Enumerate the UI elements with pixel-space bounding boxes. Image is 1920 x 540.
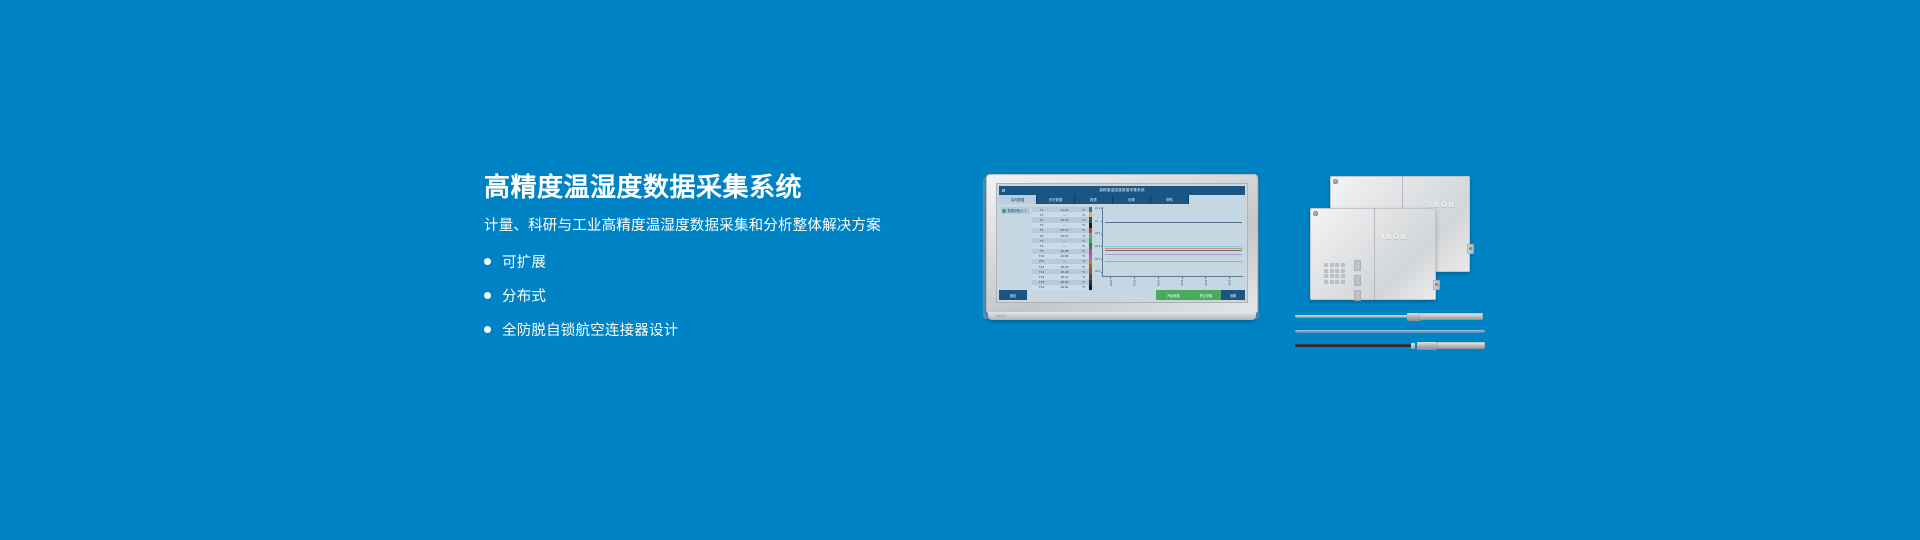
cell-value: 20.28 — [1050, 270, 1079, 274]
app-body: 数据采集仪 1 T121.01°CT2---°CT320.99°CT4---°C… — [999, 204, 1245, 290]
cell-value: 20.88 — [1050, 254, 1079, 258]
port-hole-icon — [1469, 247, 1472, 250]
app-titlebar: 高精度温湿度数据采集系统 — [999, 186, 1245, 195]
cell-unit: °C — [1079, 244, 1088, 248]
tabbar-filler — [1189, 195, 1245, 204]
chart-x-label: 11:40 — [1227, 280, 1230, 285]
hero-text-block: 高精度温湿度数据采集系统 计量、科研与工业高精度温湿度数据采集和分析整体解决方案… — [484, 172, 1004, 353]
cell-value: --- — [1050, 239, 1079, 243]
cell-channel: T11 — [1033, 259, 1050, 263]
cell-channel: T2 — [1033, 213, 1050, 217]
cell-unit: °C — [1079, 239, 1088, 243]
chart-plot-area: 21.12120.920.820.720.6 — [1102, 207, 1243, 276]
terminal-cell — [1330, 269, 1334, 273]
button-label: 设置 — [1230, 293, 1236, 298]
cell-channel: T12 — [1033, 265, 1050, 269]
terminal-cell — [1330, 274, 1334, 278]
chart-x-label: 10:40 — [1156, 280, 1159, 286]
cell-value: 20.07 — [1050, 234, 1079, 238]
cell-channel: T13 — [1033, 270, 1050, 274]
cell-value: --- — [1050, 213, 1079, 217]
tab-label: 实时数据 — [1011, 197, 1025, 202]
chart-trace — [1105, 248, 1242, 249]
bullet-dot-icon — [484, 292, 491, 299]
cell-unit: °C — [1079, 265, 1088, 269]
probe-tip — [1419, 313, 1483, 320]
tree-node-logger[interactable]: 数据采集仪 1 — [1001, 207, 1030, 214]
window-control-icon[interactable] — [1002, 189, 1005, 192]
monitor-bezel: 高精度温湿度数据采集系统 实时数据 历史数据 报表 设置 — [986, 174, 1258, 314]
connector-port — [1433, 280, 1440, 290]
button-label: 停止采集 — [1200, 293, 1213, 298]
cell-channel: T16 — [1033, 285, 1050, 289]
cell-channel: T7 — [1033, 239, 1050, 243]
chart-x-label: 11:20 — [1204, 280, 1207, 285]
terminal-cell — [1335, 263, 1339, 267]
chart-x-label: 10:00 — [1109, 280, 1112, 286]
cell-channel: T4 — [1033, 223, 1050, 227]
tree-node-label: 数据采集仪 1 — [1008, 208, 1027, 213]
stop-acquisition-button[interactable]: 停止采集 — [1191, 290, 1221, 300]
cell-value: 20.90 — [1050, 265, 1079, 269]
probe-nut — [1411, 343, 1415, 349]
chart-trace — [1105, 261, 1242, 262]
feature-item-1: 可扩展 — [484, 251, 1004, 272]
cell-channel: T1 — [1033, 208, 1050, 212]
chart-y-label: 20.7 — [1095, 258, 1100, 261]
brand-logo: INON — [996, 314, 1005, 318]
device-status-icon — [1002, 209, 1006, 213]
connector-slot — [1354, 290, 1361, 301]
chart-x-label: 10:20 — [1133, 280, 1136, 286]
chart-y-tick — [1101, 208, 1103, 209]
cell-value: --- — [1050, 244, 1079, 248]
terminal-cell — [1335, 280, 1339, 284]
terminal-cell — [1330, 280, 1334, 284]
tab-report[interactable]: 报表 — [1075, 195, 1113, 204]
monitor-screen: 高精度温湿度数据采集系统 实时数据 历史数据 报表 设置 — [999, 186, 1245, 300]
cell-unit: °C — [1079, 270, 1088, 274]
cell-value: 20.99 — [1050, 218, 1079, 222]
cell-unit: °C — [1079, 218, 1088, 222]
brand-logo: INON — [1382, 234, 1408, 241]
chart-y-tick — [1101, 246, 1103, 247]
port-hole-icon — [1435, 283, 1438, 286]
chart-y-tick — [1101, 221, 1103, 222]
cell-unit: °C — [1079, 285, 1088, 289]
cell-channel: T14 — [1033, 275, 1050, 279]
chart-trace — [1105, 254, 1242, 255]
channel-value-table: T121.01°CT2---°CT320.99°CT4---°CT520.12°… — [1032, 204, 1089, 290]
cell-unit: °C — [1079, 223, 1088, 227]
cell-value: 20.90 — [1050, 280, 1079, 284]
terminal-cell — [1324, 274, 1328, 278]
device-tree-panel: 数据采集仪 1 — [999, 204, 1032, 290]
cell-value: --- — [1050, 223, 1079, 227]
cell-channel: T8 — [1033, 244, 1050, 248]
probe-black-cable — [1295, 339, 1495, 353]
chart-y-tick — [1101, 234, 1103, 235]
panel-seam — [1374, 208, 1375, 300]
tab-label: 设置 — [1128, 197, 1135, 202]
terminal-cell — [1335, 269, 1339, 273]
terminal-cell — [1341, 274, 1345, 278]
chart-y-label: 20.9 — [1095, 232, 1100, 235]
cell-channel: T5 — [1033, 228, 1050, 232]
tab-label: 报表 — [1090, 197, 1097, 202]
chart-trace — [1105, 246, 1242, 247]
probe-blue-cable — [1295, 325, 1495, 339]
cell-unit: °C — [1079, 275, 1088, 279]
bullet-dot-icon — [484, 326, 491, 333]
cell-value: 20.98 — [1050, 249, 1079, 253]
terminal-cell — [1324, 280, 1328, 284]
chart-x-axis: 10:0010:2010:4011:0011:2011:40 — [1102, 276, 1243, 290]
sensor-probes — [1295, 310, 1495, 358]
chart-y-label: 21.1 — [1095, 207, 1100, 210]
feature-item-3: 全防脱自锁航空连接器设计 — [484, 319, 1004, 340]
probe-shaft — [1295, 330, 1485, 333]
cell-unit: °C — [1079, 228, 1088, 232]
bullet-dot-icon — [484, 258, 491, 265]
terminal-cell — [1324, 263, 1328, 267]
connector-column — [1354, 260, 1361, 301]
cell-unit: °C — [1079, 234, 1088, 238]
tab-realtime-data[interactable]: 实时数据 — [999, 195, 1037, 204]
terminal-block-grid — [1324, 263, 1345, 284]
cell-unit: °C — [1079, 254, 1088, 258]
monitor-inner-ring: 高精度温湿度数据采集系统 实时数据 历史数据 报表 设置 — [996, 183, 1248, 303]
cell-unit: °C — [1079, 249, 1088, 253]
probe-shaft — [1295, 344, 1415, 347]
chart-y-label: 20.6 — [1095, 270, 1100, 273]
page-title: 高精度温湿度数据采集系统 — [484, 172, 1004, 203]
terminal-cell — [1341, 263, 1345, 267]
connector-slot — [1354, 275, 1361, 286]
exit-button[interactable]: 退出 — [999, 290, 1027, 300]
connector-slot — [1354, 260, 1361, 271]
realtime-trend-chart: 21.12120.920.820.720.6 10:0010:2010:4011… — [1092, 204, 1245, 290]
cell-unit: °C — [1079, 259, 1088, 263]
chart-trace — [1105, 222, 1242, 223]
probe-shaft — [1295, 315, 1413, 318]
app-tabbar: 实时数据 历史数据 报表 设置 帮助 — [999, 195, 1245, 204]
cell-value: 20.94 — [1050, 285, 1079, 289]
data-logger-front-unit: INON — [1310, 208, 1436, 300]
feature-label: 分布式 — [502, 285, 546, 306]
chart-y-tick — [1101, 272, 1103, 273]
chart-trace — [1105, 250, 1242, 251]
feature-item-2: 分布式 — [484, 285, 1004, 306]
statusbar-spacer — [1027, 290, 1156, 300]
cell-unit: °C — [1079, 280, 1088, 284]
cell-channel: T9 — [1033, 249, 1050, 253]
screw-icon — [1333, 179, 1338, 184]
button-label: 退出 — [1010, 293, 1016, 298]
probe-collar — [1417, 342, 1437, 350]
cell-unit: °C — [1079, 213, 1088, 217]
chart-y-label: 20.8 — [1095, 245, 1100, 248]
cell-channel: T15 — [1033, 280, 1050, 284]
page-subtitle: 计量、科研与工业高精度温湿度数据采集和分析整体解决方案 — [484, 217, 1004, 236]
cell-value: 20.11 — [1050, 275, 1079, 279]
probe-tip — [1437, 342, 1485, 349]
panel-pc-monitor: 高精度温湿度数据采集系统 实时数据 历史数据 报表 设置 — [986, 174, 1266, 322]
terminal-cell — [1341, 269, 1345, 273]
cell-value: 21.01 — [1050, 208, 1079, 212]
button-label: 开始采集 — [1167, 293, 1180, 298]
cell-channel: T3 — [1033, 218, 1050, 222]
feature-label: 全防脱自锁航空连接器设计 — [502, 319, 678, 340]
tab-settings[interactable]: 设置 — [1113, 195, 1151, 204]
connector-port — [1467, 244, 1474, 254]
chart-y-label: 21 — [1095, 220, 1098, 223]
terminal-cell — [1335, 274, 1339, 278]
probe-steel — [1295, 310, 1495, 324]
product-hero-banner: 高精度温湿度数据采集系统 计量、科研与工业高精度温湿度数据采集和分析整体解决方案… — [0, 0, 1920, 540]
cell-value: 20.12 — [1050, 228, 1079, 232]
chart-x-label: 11:00 — [1180, 280, 1183, 285]
cell-channel: T6 — [1033, 234, 1050, 238]
cell-value: --- — [1050, 259, 1079, 263]
terminal-cell — [1330, 263, 1334, 267]
tab-help[interactable]: 帮助 — [1151, 195, 1189, 204]
chart-y-tick — [1101, 259, 1103, 260]
monitor-stand: INON — [988, 312, 1256, 320]
tab-label: 帮助 — [1166, 197, 1173, 202]
settings-button[interactable]: 设置 — [1221, 290, 1245, 300]
screw-icon — [1313, 211, 1318, 216]
terminal-cell — [1324, 269, 1328, 273]
cell-unit: °C — [1079, 208, 1088, 212]
app-title: 高精度温湿度数据采集系统 — [1099, 188, 1145, 193]
terminal-cell — [1341, 280, 1345, 284]
tab-label: 历史数据 — [1049, 197, 1063, 202]
app-statusbar: 退出 开始采集 停止采集 设置 — [999, 290, 1245, 300]
feature-label: 可扩展 — [502, 251, 546, 272]
cell-channel: T10 — [1033, 254, 1050, 258]
start-acquisition-button[interactable]: 开始采集 — [1156, 290, 1191, 300]
tab-history-data[interactable]: 历史数据 — [1037, 195, 1075, 204]
